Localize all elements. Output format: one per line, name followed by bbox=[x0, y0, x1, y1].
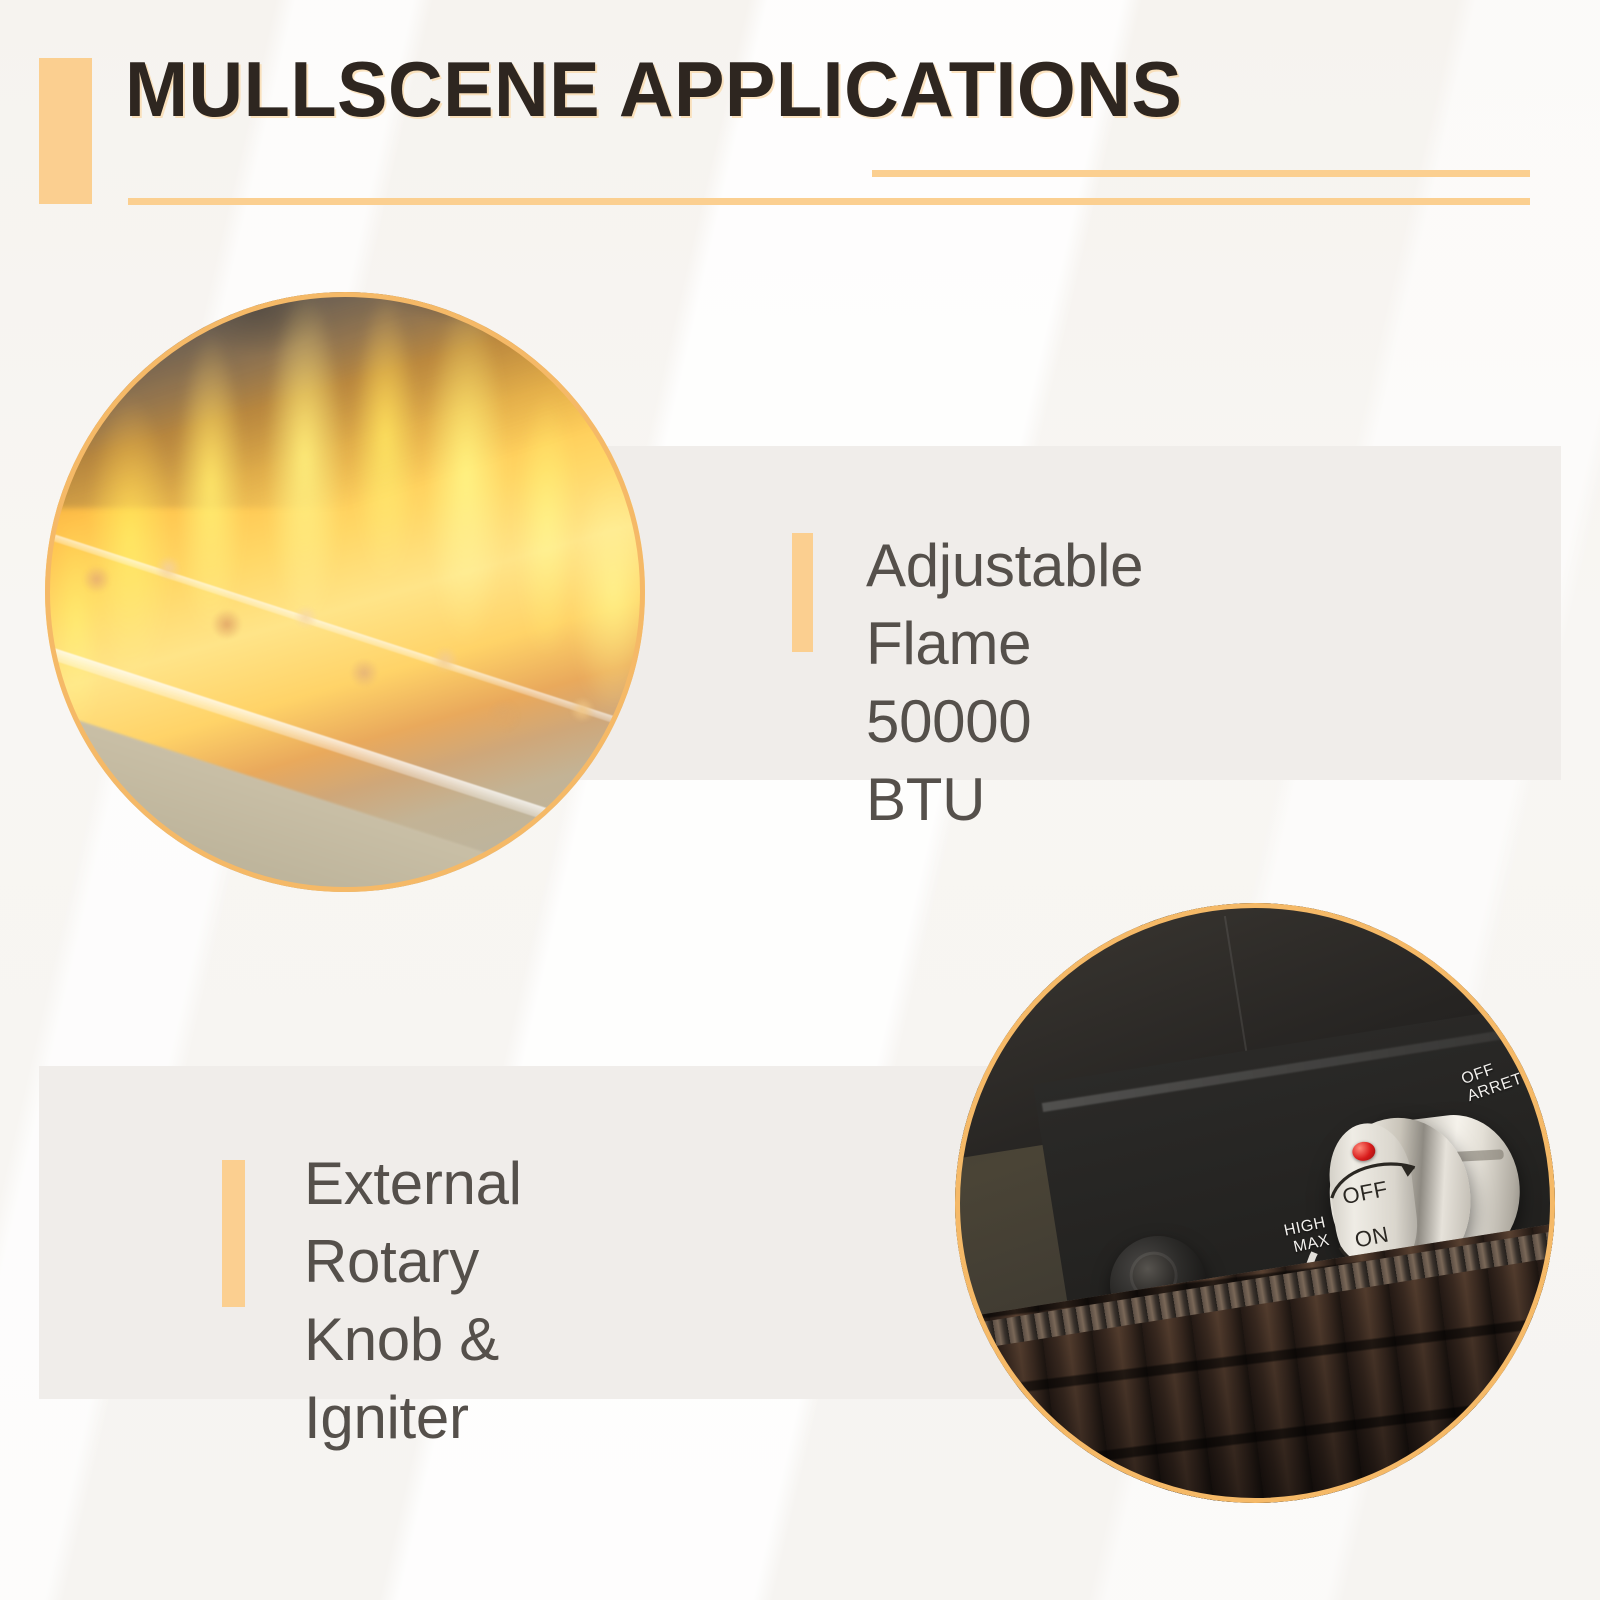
feature-label-adjustable-flame: Adjustable Flame 50000 BTU bbox=[866, 527, 1143, 839]
flame-photo bbox=[45, 292, 645, 892]
page-title: MULLSCENE APPLICATIONS bbox=[125, 44, 1182, 135]
control-panel-scene: + − AAA Electronic Ignition Allumage ele… bbox=[955, 903, 1555, 1503]
feature-accent-bar bbox=[792, 533, 813, 652]
header-rule-bottom bbox=[128, 198, 1530, 205]
control-panel-photo: + − AAA Electronic Ignition Allumage ele… bbox=[955, 903, 1555, 1503]
infographic-page: MULLSCENE APPLICATIONS Adjustable Flame … bbox=[0, 0, 1600, 1600]
feature-label-external-rotary-knob: External Rotary Knob & Igniter bbox=[304, 1145, 522, 1457]
header-accent-block bbox=[39, 58, 92, 204]
flame-scene bbox=[45, 292, 645, 892]
feature-accent-bar bbox=[222, 1160, 245, 1307]
header-rule-top bbox=[872, 170, 1530, 177]
